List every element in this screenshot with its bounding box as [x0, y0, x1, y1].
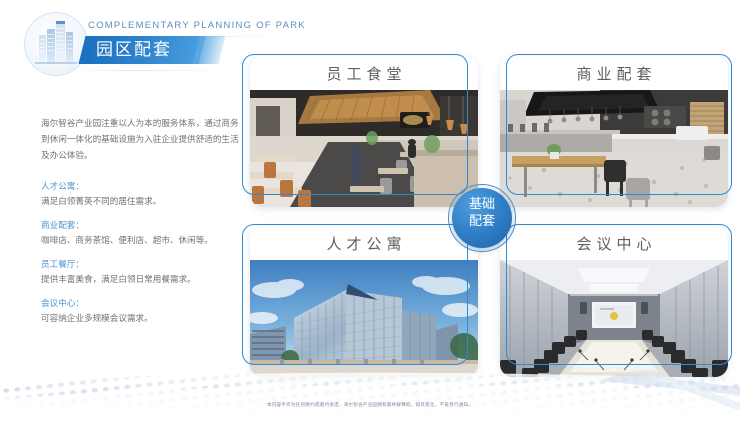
hub-badge: 基础 配套: [448, 184, 516, 252]
amenity-body: 可容纳企业多规模会议需求。: [41, 312, 241, 327]
commercial-amenities-photo: [500, 90, 728, 207]
amenity-body: 提供丰富美食，满足白领日常用餐需求。: [41, 273, 241, 288]
header-english-title: COMPLEMENTARY PLANNING OF PARK: [88, 20, 306, 31]
amenity-heading: 员工餐厅：: [41, 258, 241, 273]
panel-title: 人才公寓: [250, 233, 478, 254]
panel-card: 人才公寓: [250, 226, 478, 377]
building-logo-icon: [24, 12, 88, 76]
amenity-block-conference: 会议中心： 可容纳企业多规模会议需求。: [41, 297, 241, 327]
hub-label-line2: 配套: [452, 213, 512, 230]
intro-paragraph: 海尔智谷产业园注重以人为本的服务体系，通过商务到休闲一体化的基础设施为入驻企业提…: [41, 116, 241, 164]
amenity-block-apartment: 人才公寓： 满足白领菁英不同的居住需求。: [41, 180, 241, 210]
amenity-body: 满足白领菁英不同的居住需求。: [41, 195, 241, 210]
panel-commercial-amenities[interactable]: 商业配套: [496, 52, 728, 207]
panel-card: 员工食堂: [250, 56, 478, 207]
amenity-body: 咖啡店、商务茶馆、便利店、超市、休闲等。: [41, 234, 241, 249]
amenity-heading: 人才公寓：: [41, 180, 241, 195]
footer-disclaimer: 本内容不作为任何要约或邀约承诺，海尔智谷产业园拥有最终解释权，如有变化，不再另行…: [0, 402, 740, 408]
amenity-heading: 商业配套：: [41, 219, 241, 234]
header-chinese-title: 园区配套: [96, 38, 206, 62]
conference-center-photo: [500, 260, 728, 377]
hub-label-line1: 基础: [452, 196, 512, 213]
halftone-decoration: [0, 369, 740, 417]
panel-card: 商业配套: [500, 56, 728, 207]
panel-title: 会议中心: [500, 233, 728, 254]
amenity-block-canteen: 员工餐厅： 提供丰富美食，满足白领日常用餐需求。: [41, 258, 241, 288]
panel-staff-canteen[interactable]: 员工食堂: [246, 52, 478, 207]
talent-apartment-photo: [250, 260, 478, 377]
amenity-block-commercial: 商业配套： 咖啡店、商务茶馆、便利店、超市、休闲等。: [41, 219, 241, 249]
panel-title: 员工食堂: [250, 63, 478, 84]
panel-title: 商业配套: [500, 63, 728, 84]
amenity-heading: 会议中心：: [41, 297, 241, 312]
panel-conference-center[interactable]: 会议中心: [496, 222, 728, 377]
header-banner-underline: [78, 70, 228, 71]
panel-card: 会议中心: [500, 226, 728, 377]
staff-canteen-photo: [250, 90, 478, 207]
description-panel: 海尔智谷产业园注重以人为本的服务体系，通过商务到休闲一体化的基础设施为入驻企业提…: [41, 116, 241, 336]
hub-label: 基础 配套: [452, 196, 512, 230]
panel-talent-apartment[interactable]: 人才公寓: [246, 222, 478, 377]
